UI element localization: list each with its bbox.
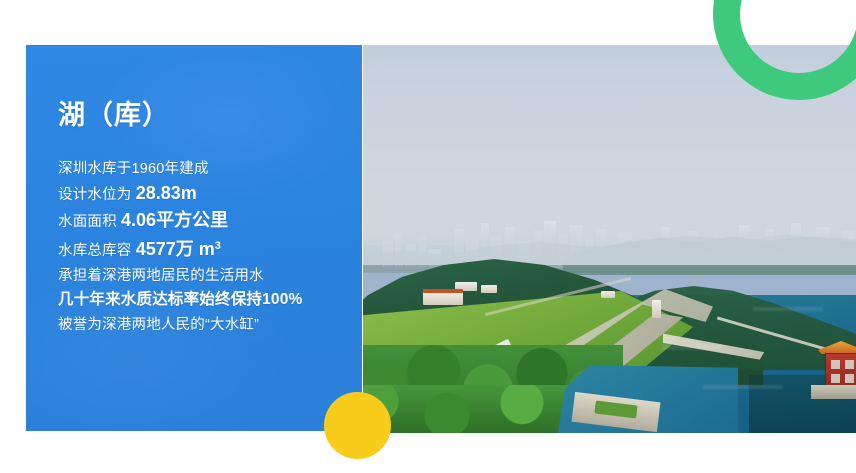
pavilion-deck <box>811 385 856 399</box>
fact-line-design-level: 设计水位为 28.83m <box>58 181 346 208</box>
fact-label: 水库总库容 <box>58 243 136 259</box>
water-reflection <box>703 385 783 389</box>
fact-value-superscript: 3 <box>215 240 221 252</box>
page-title: 湖（库） <box>58 101 346 131</box>
fact-label: 水面面积 <box>58 214 121 230</box>
reservoir-aerial-photo <box>363 45 856 433</box>
red-pavilion <box>825 353 856 389</box>
fact-line-total-capacity: 水库总库容 4577万 m3 <box>58 234 346 263</box>
yellow-circle-decoration <box>324 392 391 459</box>
fact-label: 设计水位为 <box>58 187 136 203</box>
fact-text: 被誉为深港两地人民的“大水缸” <box>58 317 259 333</box>
shore-building <box>601 291 615 298</box>
fact-line-quality: 几十年来水质达标率始终保持100% <box>58 288 346 313</box>
white-tower <box>652 300 661 318</box>
fact-line-nickname: 被誉为深港两地人民的“大水缸” <box>58 313 346 338</box>
info-panel: 湖（库） 深圳水库于1960年建成 设计水位为 28.83m 水面面积 4.06… <box>26 45 362 431</box>
fact-line-built: 深圳水库于1960年建成 <box>58 157 346 182</box>
water-reflection <box>753 307 823 311</box>
fact-value: 4577万 m <box>136 239 215 259</box>
building-roof <box>423 289 463 293</box>
fact-value: 4.06平方公里 <box>121 210 228 230</box>
shore-building <box>423 292 463 305</box>
info-panel-content: 湖（库） 深圳水库于1960年建成 设计水位为 28.83m 水面面积 4.06… <box>58 101 346 337</box>
poster-stage: 湖（库） 深圳水库于1960年建成 设计水位为 28.83m 水面面积 4.06… <box>0 0 856 473</box>
fact-value: 28.83m <box>136 183 197 203</box>
fact-line-supply: 承担着深港两地居民的生活用水 <box>58 264 346 289</box>
shore-building <box>481 285 497 293</box>
fact-text: 深圳水库于1960年建成 <box>58 161 209 177</box>
water-reflection <box>663 345 723 350</box>
fact-line-surface-area: 水面面积 4.06平方公里 <box>58 208 346 235</box>
fact-text: 承担着深港两地居民的生活用水 <box>58 268 264 284</box>
haze-layer <box>363 195 856 265</box>
fact-list: 深圳水库于1960年建成 设计水位为 28.83m 水面面积 4.06平方公里 … <box>58 157 346 337</box>
fact-text: 几十年来水质达标率始终保持100% <box>58 291 303 308</box>
